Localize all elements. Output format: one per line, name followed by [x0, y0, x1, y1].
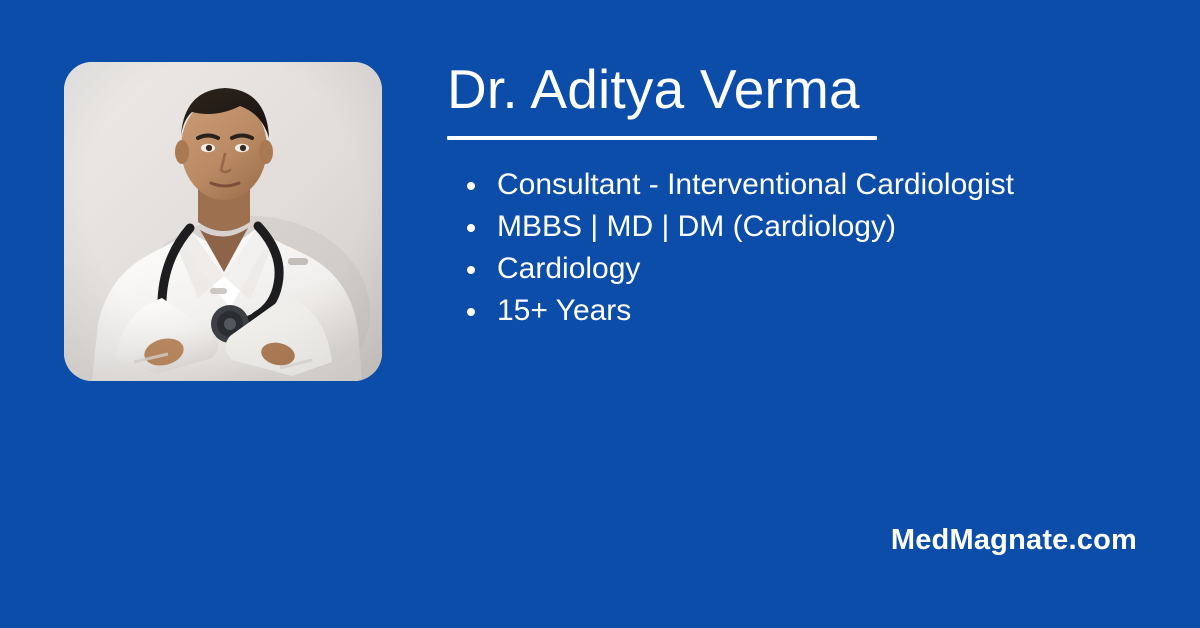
credential-text: Consultant - Interventional Cardiologist — [497, 168, 1014, 201]
doctor-photo — [64, 62, 382, 381]
doctor-profile-card: Dr. Aditya Verma Consultant - Interventi… — [0, 0, 1200, 628]
bullet-dot-icon — [467, 266, 475, 274]
list-item: Cardiology — [447, 248, 1147, 290]
credentials-list: Consultant - Interventional Cardiologist… — [447, 164, 1147, 332]
doctor-portrait-photo — [64, 62, 382, 381]
title-divider — [447, 136, 877, 140]
doctor-name: Dr. Aditya Verma — [447, 58, 1147, 120]
credential-text: Cardiology — [497, 252, 640, 285]
credential-text: 15+ Years — [497, 294, 631, 327]
credential-text: MBBS | MD | DM (Cardiology) — [497, 210, 896, 243]
site-watermark: MedMagnate.com — [891, 524, 1137, 557]
list-item: MBBS | MD | DM (Cardiology) — [447, 206, 1147, 248]
bullet-dot-icon — [467, 182, 475, 190]
list-item: 15+ Years — [447, 290, 1147, 332]
doctor-info-column: Dr. Aditya Verma Consultant - Interventi… — [447, 58, 1147, 332]
bullet-dot-icon — [467, 308, 475, 316]
list-item: Consultant - Interventional Cardiologist — [447, 164, 1147, 206]
bullet-dot-icon — [467, 224, 475, 232]
